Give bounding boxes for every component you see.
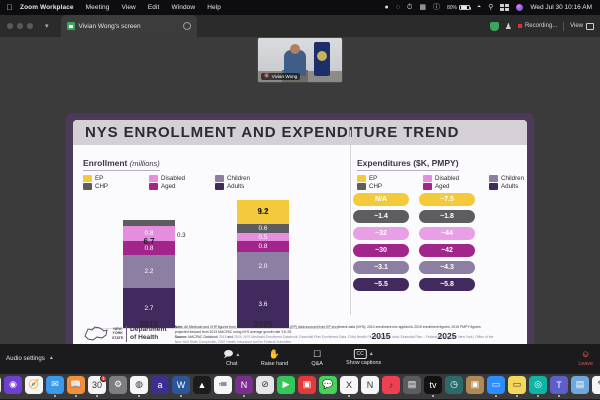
audio-settings-label: Audio settings [6,355,45,362]
dock-running-indicator [138,395,140,397]
reminders-icon: ≔ [214,376,232,394]
dock-running-indicator [54,395,56,397]
bar-segment-children-2015: 2.2 [123,255,175,288]
enrollment-panel: Enrollment (millions) EP Disabled [83,153,345,345]
menu-bar-status-items: ● ◌ ⏱ ▦ ⓘ 80% ◓ ⚲ Wed Jul 30 10:16 AM [384,4,595,11]
qa-label: Q&A [311,361,322,367]
dock-app-amazon[interactable]: a [151,376,170,397]
appstore-icon: ▤ [403,376,421,394]
dock-app-chrome[interactable]: ◍ [130,376,149,397]
dock-running-indicator [96,395,98,397]
legend-swatch-children [215,175,224,182]
shared-slide: NYS ENROLLMENT AND EXPENDITURE TREND Enr… [66,113,534,370]
enrollment-legend: EP Disabled Children CHP [83,175,283,190]
siri-icon[interactable] [516,4,523,11]
exp-legend-label-ep: EP [369,175,377,182]
siri-icon: ◉ [4,376,22,394]
mail-icon: ✉ [46,376,64,394]
exp-legend-swatch-disabled [423,175,432,182]
new-york-state-outline-icon [83,325,109,342]
dock-running-indicator [516,395,518,397]
slide-canvas: NYS ENROLLMENT AND EXPENDITURE TREND Enr… [73,120,527,363]
dock-app-excel[interactable]: X [340,376,359,397]
control-center-icon[interactable] [500,4,509,11]
exp-legend-swatch-aged [423,183,432,190]
enrollment-heading: Enrollment (millions) [83,158,160,171]
dock-running-indicator [537,395,539,397]
safari-icon: 🧭 [25,376,43,394]
tab-title-label: Vivian Wong's screen [79,23,141,30]
audio-settings-button[interactable]: Audio settings ▲ [0,355,54,362]
panopto-icon: ▲ [193,376,211,394]
bar-callout-chp-2015: 0.3 [177,232,186,239]
dock-app-app-store[interactable]: ▤ [403,376,422,397]
expenditures-legend: EP Disabled Children CHP [357,175,527,190]
layout-icon [586,23,594,30]
dock-running-indicator [474,395,476,397]
raise-hand-button[interactable]: ✋ Raise hand [261,349,288,367]
dock-running-indicator [201,395,203,397]
chat-button[interactable]: 🗩 ▲ Chat [219,349,245,367]
info-icon[interactable]: ⓘ [433,4,440,11]
menu-item-edit[interactable]: Edit [142,4,166,11]
slide-notes: Note: All Medicaid and CHP figures from … [175,325,495,345]
legend-swatch-aged [149,183,158,190]
raise-hand-label: Raise hand [261,361,288,367]
dock-app-tv-red[interactable]: ▣ [298,376,317,397]
window-traffic-lights[interactable] [0,23,33,29]
dock-app-settings[interactable]: ⚙ [109,376,128,397]
legend-item-adults: Adults [215,183,281,190]
record-dot-icon [518,24,522,28]
leave-meeting-icon: ⎉ [582,349,589,360]
dock-app-apple-tv[interactable]: tv [424,376,443,397]
dock-running-indicator [390,395,392,397]
legend-label-children: Children [227,175,250,182]
dock-app-freeform[interactable]: ✎ [592,376,600,397]
exp-legend-swatch-adults [489,183,498,190]
ny-line-3: STATE [112,336,123,340]
dock-app-siri[interactable]: ◉ [4,376,23,397]
dock-running-indicator [222,395,224,397]
timemachine-icon: ◷ [445,376,463,394]
exp-legend-item-children: Children [489,175,527,182]
dock-app-launchpad[interactable]: ▦ [0,376,2,397]
dock-app-books[interactable]: 📖 [67,376,86,397]
calendar-icon: 301 [88,376,106,394]
enrollment-heading-unit: (millions) [130,159,160,168]
exp-legend-item-adults: Adults [489,183,527,190]
menu-item-window[interactable]: Window [165,4,201,11]
pill-adults-2015: ~5.5 [353,278,409,291]
tab-shared-screen[interactable]: Vivian Wong's screen [61,15,197,37]
security-shield-icon[interactable] [490,22,499,31]
dock-app-safari[interactable]: 🧭 [25,376,44,397]
exp-legend-label-aged: Aged [435,183,449,190]
exp-legend-item-aged: Aged [423,183,489,190]
bar-total-2015: 6.7 [123,237,175,246]
participants-icon[interactable]: ♟ [505,22,512,31]
legend-item-disabled: Disabled [149,175,215,182]
excel-icon: X [340,376,358,394]
legend-label-adults: Adults [227,183,244,190]
slide-body: Enrollment (millions) EP Disabled [73,145,527,345]
exp-legend-label-adults: Adults [501,183,518,190]
exp-legend-swatch-chp [357,183,366,190]
dock-running-indicator [369,395,371,397]
dock-app-mail[interactable]: ✉ [46,376,65,397]
exp-legend-swatch-children [489,175,498,182]
qa-button[interactable]: ☐ Q&A [304,349,330,367]
freeform-icon: ✎ [592,376,600,394]
bar-segment-aged-2025: 0.8 [237,241,289,252]
leave-button[interactable]: ⎉ Leave [578,349,593,367]
dock-running-indicator [558,395,560,397]
recording-label: Recording... [525,23,557,29]
dock-running-indicator [432,395,434,397]
archive-icon: ▣ [466,376,484,394]
chat-row: 🗩 ▲ [223,349,240,360]
menu-item-help[interactable]: Help [201,4,227,11]
person-head [290,44,300,54]
dock-running-indicator [306,395,308,397]
exp-legend-label-children: Children [501,175,524,182]
pill-chp-2015: ~1.4 [353,210,409,223]
dock-app-news[interactable]: N [361,376,380,397]
enrollment-heading-label: Enrollment [83,158,127,168]
legend-swatch-adults [215,183,224,190]
onenote-icon: N [235,376,253,394]
tv-icon: ▣ [298,376,316,394]
search-icon[interactable]: ⚲ [488,4,493,11]
legend-item-chp: CHP [83,183,149,190]
battery-shape [459,5,470,11]
legend-swatch-chp [83,183,92,190]
leave-label: Leave [578,361,593,367]
appletv-icon: tv [424,376,442,394]
dock-app-panopto[interactable]: ▲ [193,376,212,397]
view-button[interactable]: View [570,23,594,30]
hand-icon: ✋ [269,349,280,360]
maximize-window-button[interactable] [27,23,33,29]
exp-legend-swatch-ep [357,175,366,182]
dock-running-indicator [117,395,119,397]
show-captions-button[interactable]: CC ▲ Show captions [346,349,381,366]
dock-app-teams[interactable]: T [550,376,569,397]
music-icon: ♪ [382,376,400,394]
participant-name-label: Vivian Wong [272,74,298,79]
dock-app-notes[interactable]: ▭ [508,376,527,397]
ny-doh-logo: NEW YORK STATE Department of Health [83,325,167,342]
dock-app-facetime[interactable]: ▶ [277,376,296,397]
source-and: and [226,335,234,339]
minimize-window-button[interactable] [17,23,23,29]
slide-title-band: NYS ENROLLMENT AND EXPENDITURE TREND [73,120,527,145]
pill-adults-2025: ~5.8 [419,278,475,291]
captions-row: CC ▲ [354,349,374,359]
captions-caret-icon[interactable]: ▲ [369,351,374,357]
chevron-down-icon[interactable]: ▾ [45,23,49,30]
compass-icon: ⊘ [256,376,274,394]
preview-icon: ▤ [571,376,589,394]
doh-line-1: Department [130,326,167,333]
recording-indicator[interactable]: Recording... [518,23,557,29]
menu-app-name[interactable]: Zoom Workplace [14,4,80,11]
logo-divider [126,326,127,342]
dock-app-archive[interactable]: ▣ [466,376,485,397]
control-bar-center: 🗩 ▲ Chat ✋ Raise hand ☐ Q&A CC ▲ Show ca… [219,349,381,367]
menu-item-meeting[interactable]: Meeting [80,4,116,11]
expenditures-heading: Expenditures ($K, PMPY) [357,158,459,171]
dock-running-indicator [285,395,287,397]
dock-app-reminders[interactable]: ≔ [214,376,233,397]
teams-icon: T [550,376,568,394]
participant-video-thumbnail[interactable]: 🔇 Vivian Wong [257,37,343,83]
chrome-icon: ◍ [130,376,148,394]
bar-total-2025: 9.2 [237,207,289,216]
pill-ep-2025: ~7.5 [419,193,475,206]
dock-running-indicator [243,395,245,397]
view-label: View [570,23,583,29]
books-icon: 📖 [67,376,85,394]
window-bar-right-controls: ♟ Recording... View [490,22,600,31]
chat-label: Chat [226,361,237,367]
exp-legend-item-chp: CHP [357,183,423,190]
source-text: MACPAC Databook [187,335,219,339]
legend-swatch-ep [83,175,92,182]
bar-segment-children-2025: 2.0 [237,252,289,280]
dock-apps-container: ☺▦◉🧭✉📖301⚙◍aW▲≔N⊘▶▣💬XN♪▤tv◷▣▭▭◎T▤✎🗑 [0,374,600,399]
bar-segment-disabled-2025: 0.5 [237,233,289,241]
notes-icon: ▭ [508,376,526,394]
bar-column-2015: 6.7 0.8 0.8 2.2 2.7 2015 [123,220,175,328]
legend-label-aged: Aged [161,183,175,190]
pill-aged-2015: ~30 [353,244,409,257]
dock-running-indicator [327,395,329,397]
legend-item-children: Children [215,175,281,182]
settings-icon: ⚙ [109,376,127,394]
cc-icon: CC [354,349,367,359]
zoom-window-tab-bar: ▾ Vivian Wong's screen ♟ Recording... Vi… [0,15,600,37]
dock-app-time-machine[interactable]: ◷ [445,376,464,397]
dock-app-calendar[interactable]: 301 [88,376,107,397]
battery-percent-label: 80% [447,5,457,11]
messages-icon: 💬 [319,376,337,394]
dock-app-compass[interactable]: ⊘ [256,376,275,397]
dock-app-webex[interactable]: ◎ [529,376,548,397]
mic-muted-icon: 🔇 [264,74,270,79]
dock-running-indicator [180,395,182,397]
dock-app-music[interactable]: ♪ [382,376,401,397]
legend-item-ep: EP [83,175,149,182]
exp-legend-label-disabled: Disabled [435,175,459,182]
pill-ep-2015: N/A [353,193,409,206]
dock-running-indicator [411,395,413,397]
dock-app-messages[interactable]: 💬 [319,376,338,397]
pill-children-2025: ~4.3 [419,261,475,274]
legend-swatch-disabled [149,175,158,182]
zoom-icon: ▭ [487,376,505,394]
exp-legend-item-disabled: Disabled [423,175,489,182]
qa-icon: ☐ [313,349,321,360]
legend-label-disabled: Disabled [161,175,185,182]
meeting-stage: 🔇 Vivian Wong NYS ENROLLMENT AND EXPENDI… [0,37,600,344]
clock-label[interactable]: Wed Jul 30 10:16 AM [530,4,592,11]
dock-running-indicator [75,395,77,397]
dock-running-indicator [348,395,350,397]
mute-icon[interactable]: ◌ [396,4,400,11]
dock-app-onenote[interactable]: N [235,376,254,397]
pill-children-2015: ~3.1 [353,261,409,274]
page-title: NYS ENROLLMENT AND EXPENDITURE TREND [85,124,459,141]
pill-chp-2025: ~1.8 [419,210,475,223]
source-link-2024[interactable]: 2024 [234,335,242,339]
news-icon: N [361,376,379,394]
macos-dock: ☺▦◉🧭✉📖301⚙◍aW▲≔N⊘▶▣💬XN♪▤tv◷▣▭▭◎T▤✎🗑 [0,372,600,400]
dock-running-indicator [159,395,161,397]
dock-app-word[interactable]: W [172,376,191,397]
close-window-button[interactable] [7,23,13,29]
legend-label-chp: CHP [95,183,108,190]
department-of-health-label: Department of Health [130,326,167,342]
show-captions-label: Show captions [346,360,381,366]
timer-icon[interactable]: ⏱ [407,4,412,11]
camera-circle-icon[interactable] [183,22,191,30]
participant-name-badge: 🔇 Vivian Wong [261,73,300,80]
pill-aged-2025: ~42 [419,244,475,257]
word-icon: W [172,376,190,394]
webex-icon: ◎ [529,376,547,394]
dock-running-indicator [495,395,497,397]
pill-disabled-2015: ~32 [353,227,409,240]
ny-state-wordmark: NEW YORK STATE [112,327,123,339]
dock-running-indicator [453,395,455,397]
camera-icon[interactable]: ● [384,4,388,11]
dock-badge-calendar: 1 [100,376,106,382]
expenditures-panel: Expenditures ($K, PMPY) EP Disabled [345,153,517,345]
screen-share-icon [67,22,75,30]
bar-column-2025: 9.2 1.7 0.6 0.5 0.8 2.0 3.6 2025 [237,200,289,328]
dock-running-indicator [12,395,14,397]
ny-flag [314,42,330,76]
amazon-icon: a [151,376,169,394]
zoom-control-bar: Audio settings ▲ 🗩 ▲ Chat ✋ Raise hand ☐… [0,344,600,372]
note-text: All Medicaid and CHP figures from MACPAC… [175,325,481,334]
apple-logo-icon[interactable]:  [5,4,14,12]
exp-legend-item-ep: EP [357,175,423,182]
dock-running-indicator [579,395,581,397]
legend-item-aged: Aged [149,183,215,190]
chat-icon: 🗩 [223,349,233,360]
exp-legend-label-chp: CHP [369,183,382,190]
macos-menu-bar:  Zoom Workplace Meeting View Edit Windo… [0,0,600,15]
menu-item-view[interactable]: View [115,4,141,11]
doh-line-2: of Health [130,334,158,341]
expenditure-pill-grid: N/A ~7.5 ~1.4 ~1.8 ~32 ~44 ~30 ~42 ~3.1 … [353,193,475,291]
chat-caret-icon[interactable]: ▲ [235,352,240,358]
wifi-icon[interactable]: ◓ [477,4,481,11]
pill-disabled-2025: ~44 [419,227,475,240]
battery-icon[interactable]: 80% [447,5,470,11]
facetime-icon: ▶ [277,376,295,394]
dock-running-indicator [264,395,266,397]
bar-segment-chp-2025: 0.6 [237,224,289,233]
dock-running-indicator [33,395,35,397]
dock-app-zoom[interactable]: ▭ [487,376,506,397]
legend-label-ep: EP [95,175,103,182]
dock-app-preview[interactable]: ▤ [571,376,590,397]
source-label: Source: [175,335,188,339]
divider [563,22,564,31]
chevron-up-icon[interactable]: ▲ [49,355,54,361]
calendar-icon[interactable]: ▦ [419,4,426,11]
launchpad-icon: ▦ [0,376,1,394]
